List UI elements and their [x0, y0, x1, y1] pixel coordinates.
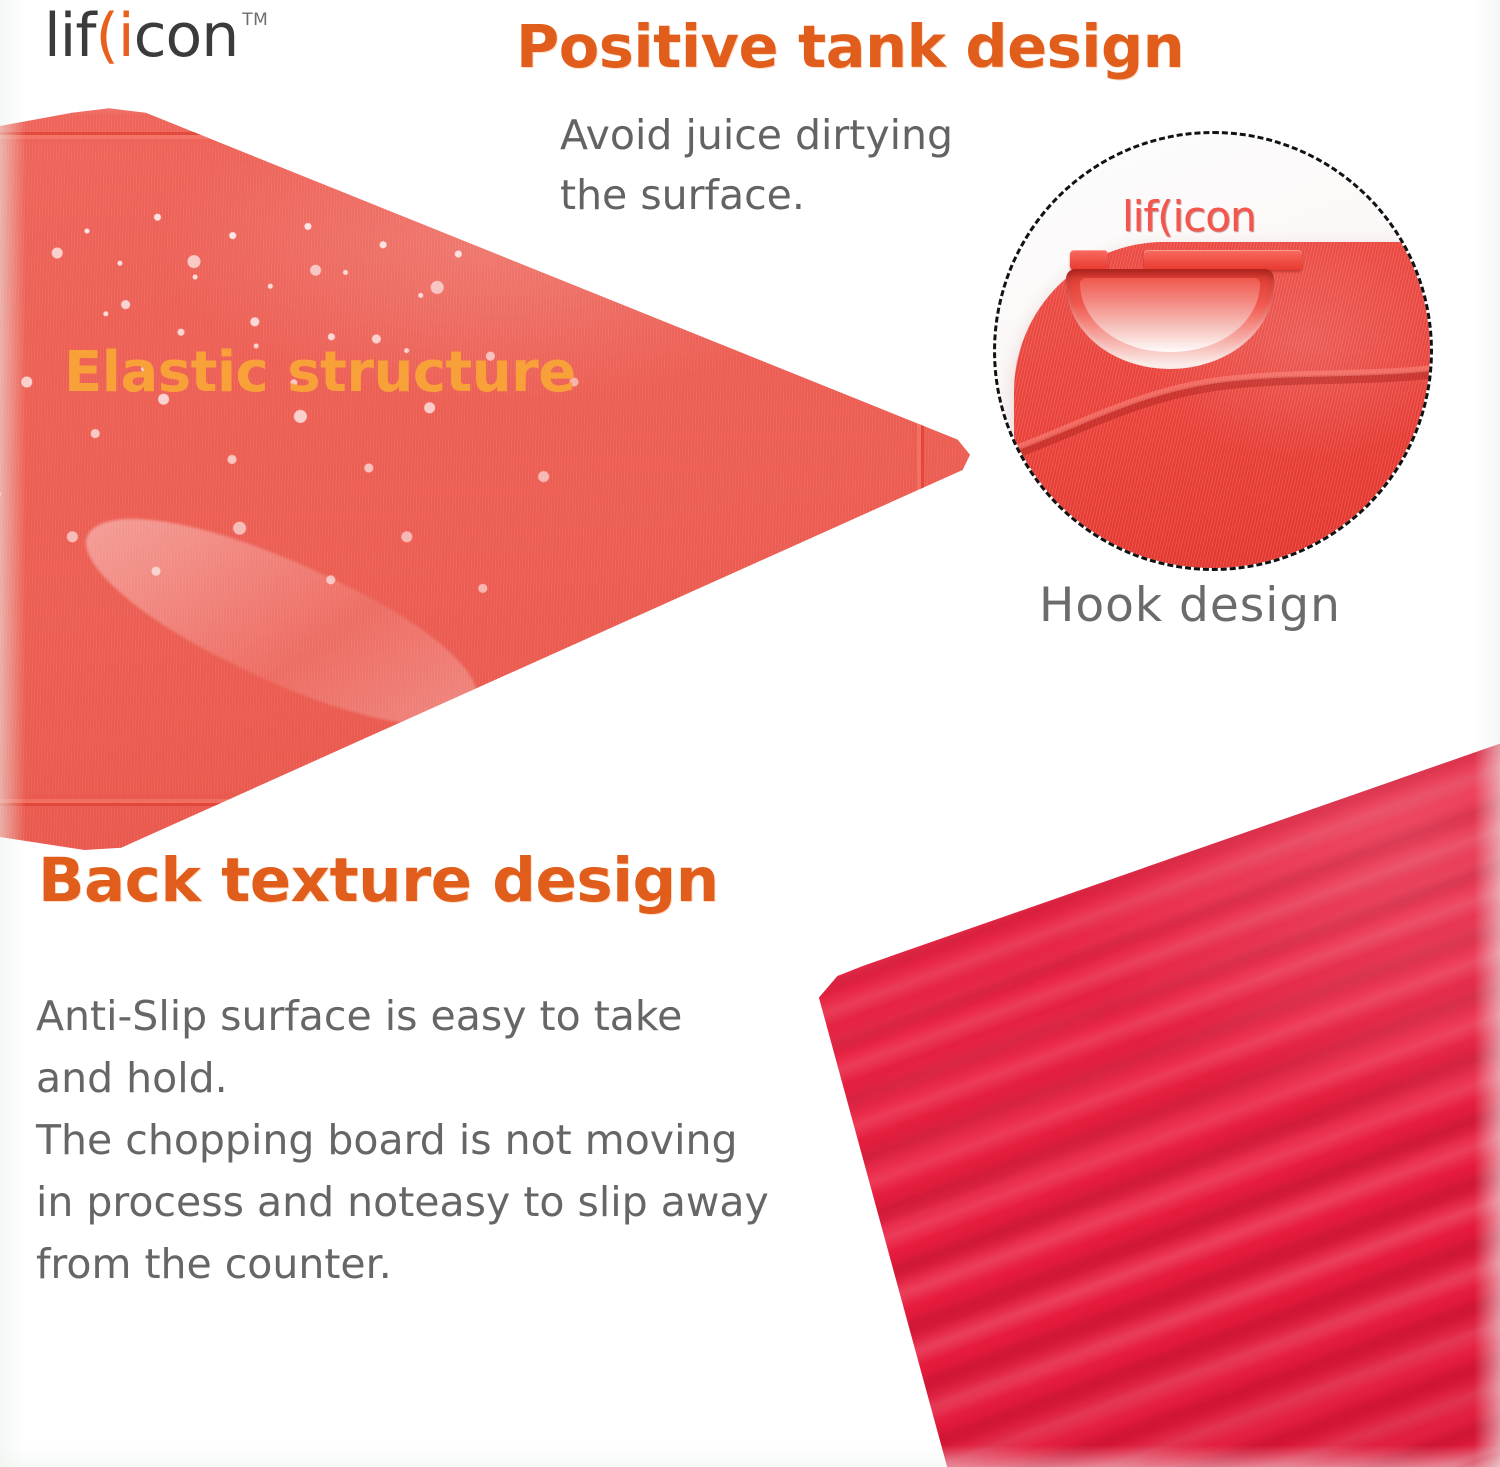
brand-logo-text: lif(icon — [44, 6, 238, 66]
product-feature-infographic: lif(icon TM Positive tank design Avoid j… — [0, 0, 1500, 1467]
brand-logo-part2: con — [134, 1, 239, 71]
brand-logo-i: i — [118, 1, 134, 71]
trademark-icon: TM — [242, 10, 268, 30]
board-photo-back-texture — [745, 700, 1500, 1467]
hook-design-callout: lif(icon — [993, 131, 1433, 571]
overlay-label-elastic-structure: Elastic structure — [64, 340, 576, 405]
section-body-back-texture-design: Anti-Slip surface is easy to take and ho… — [36, 985, 796, 1295]
board-edge-bevel — [745, 700, 1500, 1467]
caption-hook-design: Hook design — [1039, 578, 1341, 633]
callout-dashed-circle-icon — [993, 131, 1433, 571]
brand-logo: lif(icon TM — [44, 6, 268, 70]
section-title-back-texture-design: Back texture design — [38, 845, 719, 916]
section-title-positive-tank-design: Positive tank design — [516, 12, 1184, 81]
brand-logo-part1: lif — [44, 1, 95, 71]
brand-logo-paren: ( — [95, 1, 117, 71]
section-subtitle-positive-tank-design: Avoid juice dirtying the surface. — [560, 105, 1000, 225]
